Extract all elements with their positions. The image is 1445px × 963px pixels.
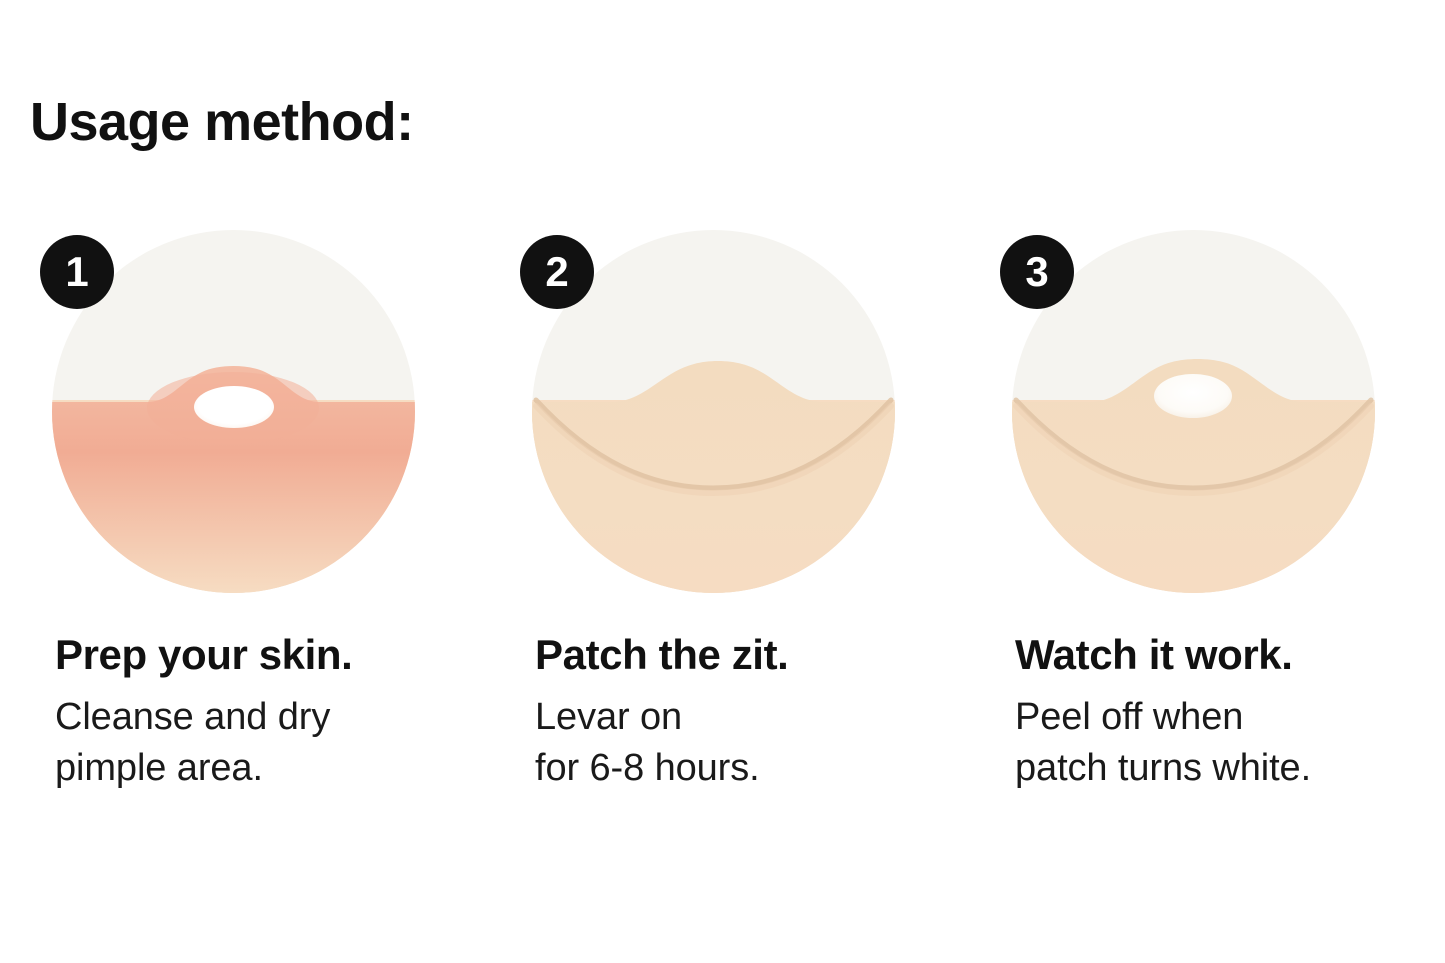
step-2-body: Levar on for 6-8 hours. bbox=[535, 692, 987, 793]
step-1-body: Cleanse and dry pimple area. bbox=[55, 692, 507, 793]
usage-method-infographic: Usage method: bbox=[0, 0, 1445, 963]
step-1-body-line-1: Cleanse and dry bbox=[55, 692, 507, 743]
step-3-body: Peel off when patch turns white. bbox=[1015, 692, 1445, 793]
step-2-body-line-1: Levar on bbox=[535, 692, 987, 743]
step-2-badge: 2 bbox=[520, 235, 594, 309]
step-2-number: 2 bbox=[545, 251, 568, 293]
step-2-illustration-wrap: 2 bbox=[532, 230, 895, 593]
step-3-body-line-2: patch turns white. bbox=[1015, 743, 1445, 794]
step-3-number: 3 bbox=[1025, 251, 1048, 293]
step-3: 3 Watch it work. Peel off when patch tur… bbox=[1012, 230, 1445, 793]
step-1-number: 1 bbox=[65, 251, 88, 293]
step-1-badge: 1 bbox=[40, 235, 114, 309]
step-3-illustration-wrap: 3 bbox=[1012, 230, 1375, 593]
steps-row: 1 Prep your skin. Cleanse and dry pimple… bbox=[0, 230, 1445, 793]
step-2-heading: Patch the zit. bbox=[535, 631, 987, 678]
step-3-heading: Watch it work. bbox=[1015, 631, 1445, 678]
step-2: 2 Patch the zit. Levar on for 6-8 hours. bbox=[532, 230, 987, 793]
step-3-caption: Watch it work. Peel off when patch turns… bbox=[1012, 631, 1445, 793]
page-title: Usage method: bbox=[30, 94, 414, 151]
step-1-heading: Prep your skin. bbox=[55, 631, 507, 678]
step-1-illustration-wrap: 1 bbox=[52, 230, 415, 593]
step-1: 1 Prep your skin. Cleanse and dry pimple… bbox=[52, 230, 507, 793]
step-3-body-line-1: Peel off when bbox=[1015, 692, 1445, 743]
step-2-body-line-2: for 6-8 hours. bbox=[535, 743, 987, 794]
step-2-caption: Patch the zit. Levar on for 6-8 hours. bbox=[532, 631, 987, 793]
step-3-badge: 3 bbox=[1000, 235, 1074, 309]
step-1-body-line-2: pimple area. bbox=[55, 743, 507, 794]
step-1-caption: Prep your skin. Cleanse and dry pimple a… bbox=[52, 631, 507, 793]
